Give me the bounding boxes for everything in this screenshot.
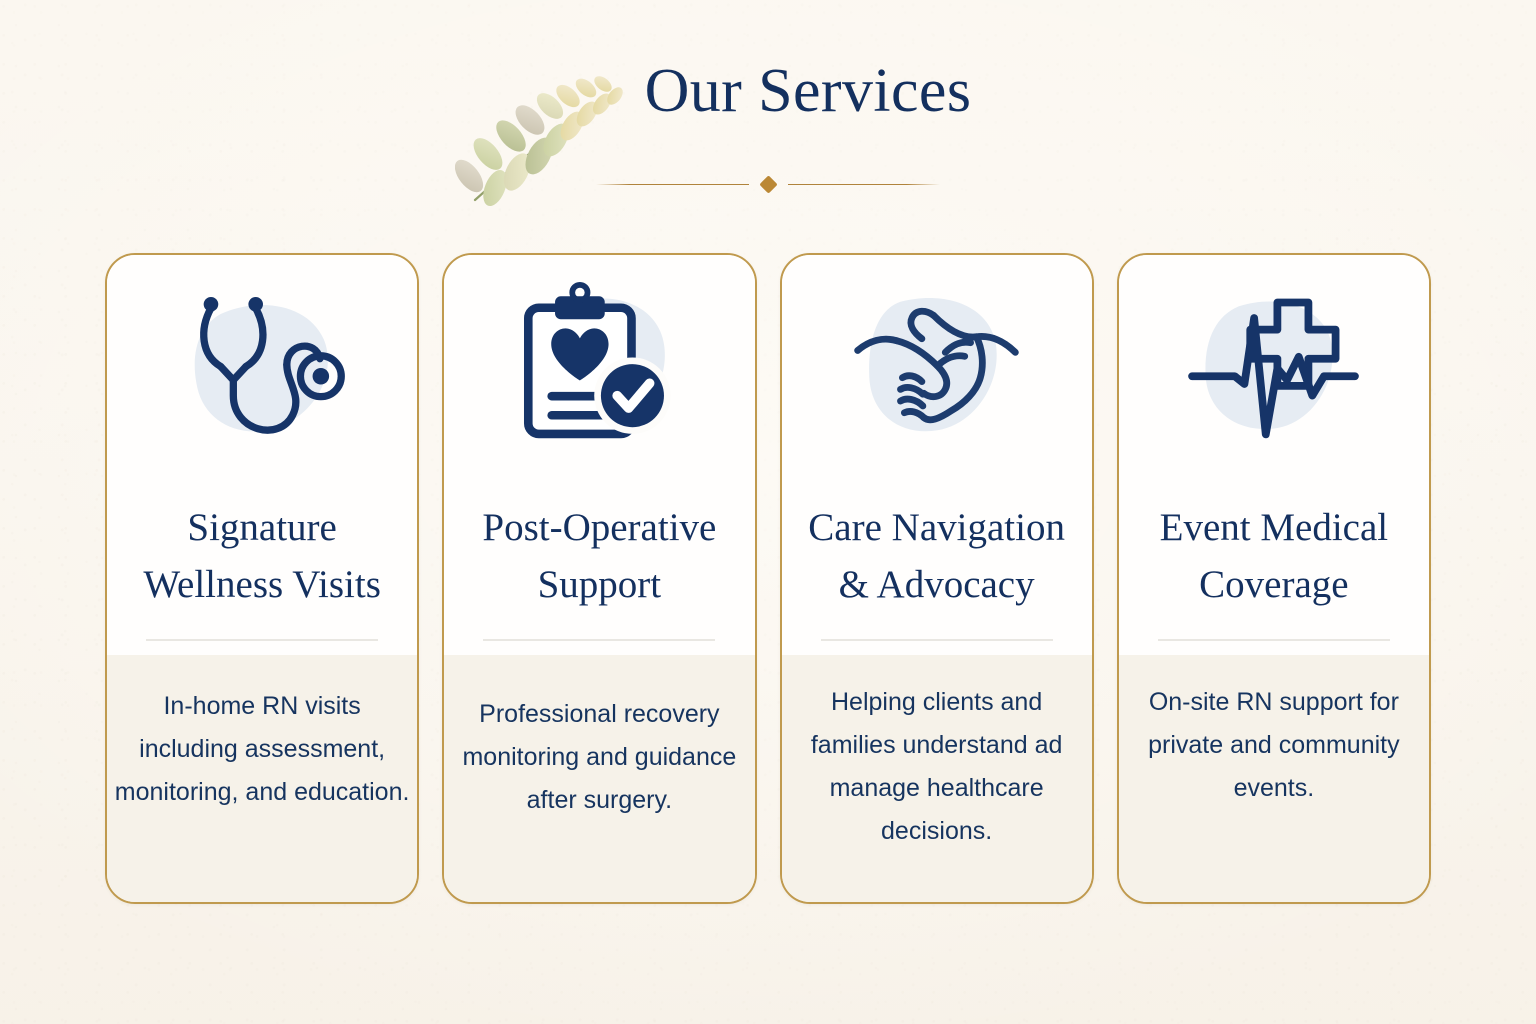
handshake-icon xyxy=(782,255,1092,470)
divider-diamond xyxy=(759,175,777,193)
card-title: Signature Wellness Visits xyxy=(131,500,393,613)
diamond-divider-icon xyxy=(596,178,940,191)
card-divider xyxy=(483,639,715,641)
card-divider xyxy=(1158,639,1390,641)
card-body-text: In-home RN visits including assessment, … xyxy=(107,685,417,814)
card-title-line-2: Support xyxy=(538,563,662,606)
heartbeat-cross-icon xyxy=(1119,255,1429,470)
service-card-signature-wellness-visits[interactable]: Signature Wellness Visits In-home RN vis… xyxy=(105,253,419,904)
stethoscope-icon xyxy=(107,255,417,470)
service-card-event-medical-coverage[interactable]: Event Medical Coverage On-site RN suppor… xyxy=(1117,253,1431,904)
card-title: Event Medical Coverage xyxy=(1148,500,1401,613)
card-title: Post-Operative Support xyxy=(470,500,728,613)
service-cards-row: Signature Wellness Visits In-home RN vis… xyxy=(105,253,1431,904)
service-card-post-operative-support[interactable]: Post-Operative Support Professional reco… xyxy=(442,253,756,904)
card-body-text: Helping clients and families understand … xyxy=(782,681,1092,853)
divider-line-right xyxy=(788,184,941,186)
card-title-line-2: Wellness Visits xyxy=(143,563,381,606)
divider-line-left xyxy=(596,184,749,186)
card-title-line-1: Event Medical xyxy=(1160,506,1389,549)
card-title: Care Navigation & Advocacy xyxy=(796,500,1077,613)
card-divider xyxy=(146,639,378,641)
card-body-text: Professional recovery monitoring and gui… xyxy=(444,693,754,822)
card-title-line-2: Coverage xyxy=(1199,563,1348,606)
clipboard-heart-check-icon xyxy=(444,255,754,470)
card-title-line-1: Care Navigation xyxy=(808,506,1065,549)
card-title-line-2: & Advocacy xyxy=(839,563,1035,606)
service-card-care-navigation-advocacy[interactable]: Care Navigation & Advocacy Helping clien… xyxy=(780,253,1094,904)
card-title-line-1: Post-Operative xyxy=(482,506,716,549)
page-header: Our Services xyxy=(0,60,1536,220)
card-divider xyxy=(821,639,1053,641)
title-row: Our Services xyxy=(0,60,1536,122)
card-title-line-1: Signature xyxy=(187,506,336,549)
page-title: Our Services xyxy=(645,60,972,122)
card-body-text: On-site RN support for private and commu… xyxy=(1119,681,1429,810)
